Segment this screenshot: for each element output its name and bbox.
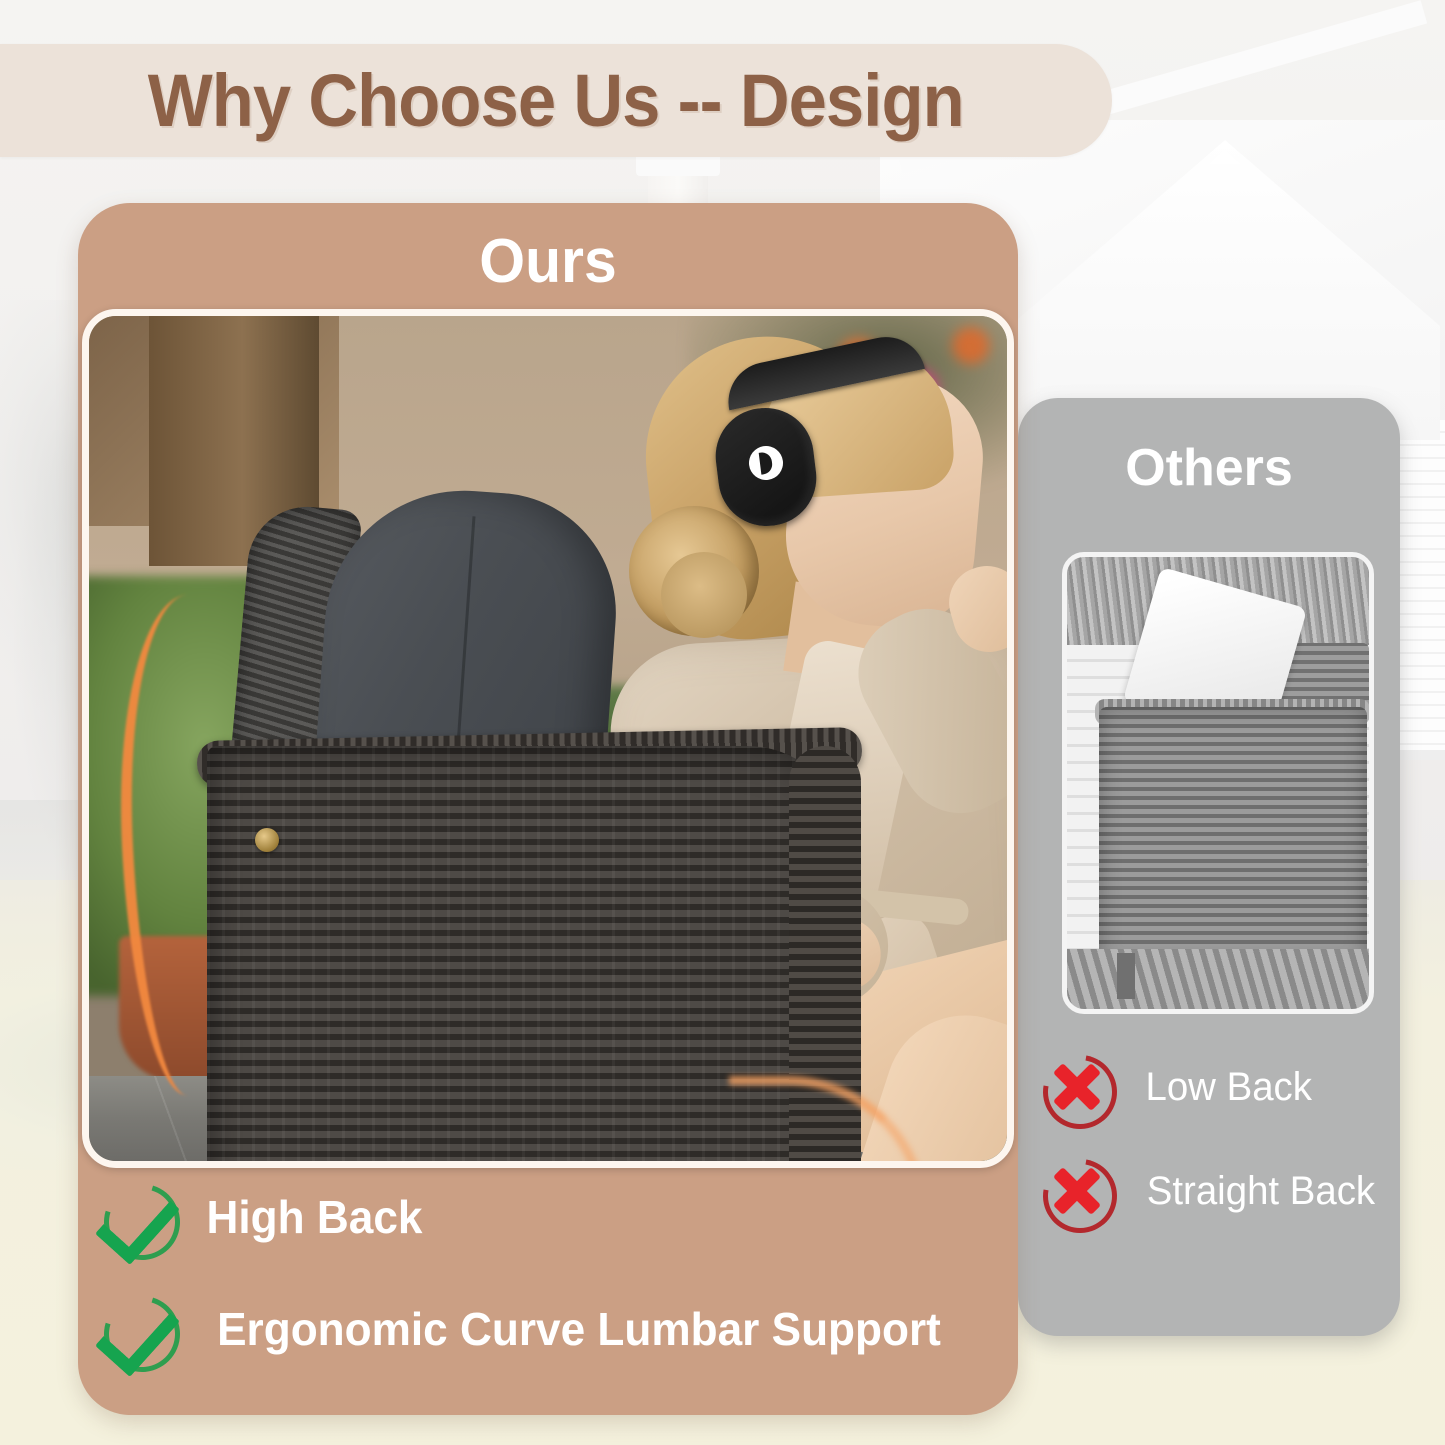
drawback-label: Low Back xyxy=(1145,1067,1311,1107)
others-product-photo xyxy=(1062,552,1374,1014)
list-item: Ergonomic Curve Lumbar Support xyxy=(100,1290,1000,1368)
others-panel-title: Others xyxy=(1018,442,1400,494)
list-item: Straight Back xyxy=(1040,1152,1420,1230)
check-circle-icon xyxy=(100,1290,178,1368)
title-banner: Why Choose Us -- Design xyxy=(0,44,1112,157)
infographic-canvas: Why Choose Us -- Design Others Low Back … xyxy=(0,0,1445,1445)
photo-chair-brass-bolt xyxy=(255,828,279,852)
list-item: Low Back xyxy=(1040,1048,1420,1126)
page-title: Why Choose Us -- Design xyxy=(148,64,964,138)
ours-feature-list: High Back Ergonomic Curve Lumbar Support xyxy=(100,1178,1000,1402)
drawback-label: Straight Back xyxy=(1147,1171,1375,1211)
ours-panel-title: Ours xyxy=(102,231,995,293)
x-circle-icon xyxy=(1040,1048,1118,1126)
others-photo-decking xyxy=(1067,949,1369,1009)
others-photo-sofa-body xyxy=(1099,707,1367,967)
x-circle-icon xyxy=(1040,1152,1118,1230)
feature-label: Ergonomic Curve Lumbar Support xyxy=(217,1306,941,1352)
list-item: High Back xyxy=(100,1178,1000,1256)
feature-label: High Back xyxy=(206,1194,422,1240)
others-drawback-list: Low Back Straight Back xyxy=(1040,1048,1420,1256)
photo-woman-braid-bun-lower xyxy=(661,552,747,638)
check-circle-icon xyxy=(100,1178,178,1256)
others-photo-sofa-leg xyxy=(1117,953,1135,999)
